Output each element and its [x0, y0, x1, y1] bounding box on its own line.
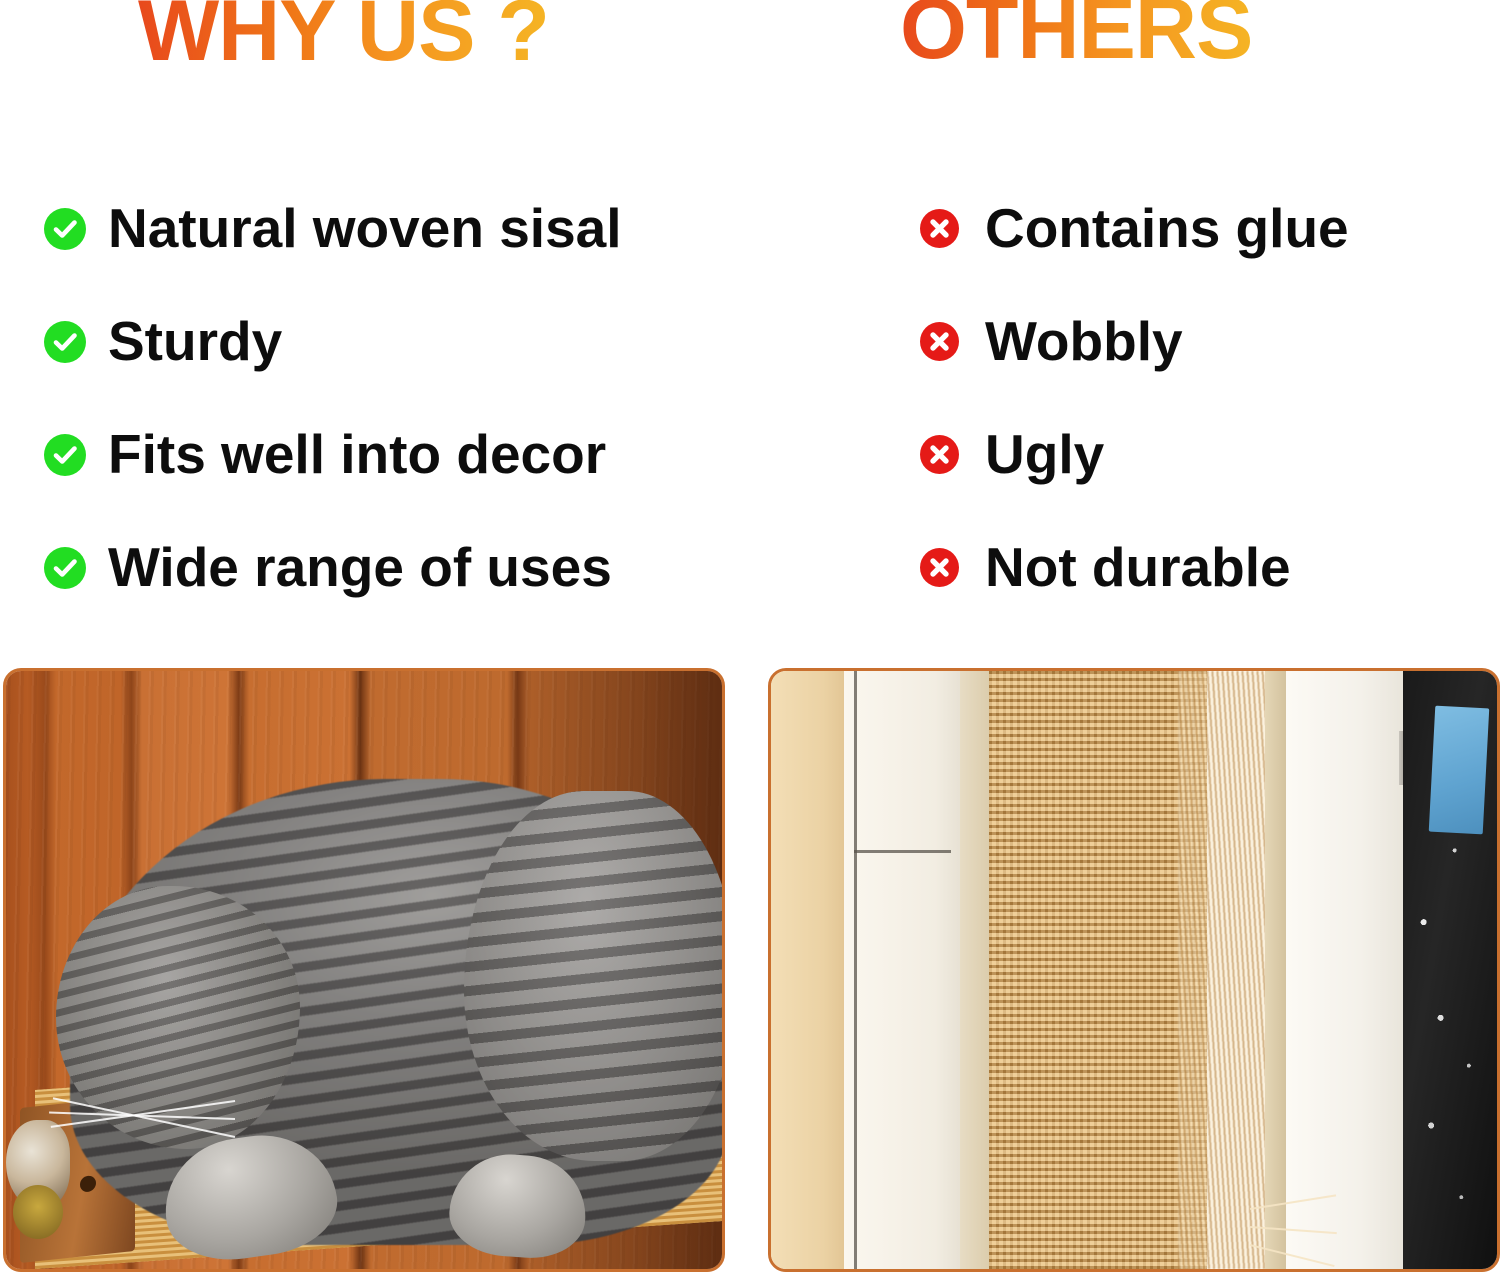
list-item-label: Sturdy: [108, 314, 282, 369]
sisal-mat: [989, 671, 1207, 1269]
check-circle-icon: [44, 434, 86, 476]
cons-list: Contains glue Wobbly Ugly: [920, 172, 1349, 624]
list-item: Natural woven sisal: [44, 172, 622, 285]
check-circle-icon: [44, 547, 86, 589]
right-wall: [1286, 671, 1409, 1269]
pros-list: Natural woven sisal Sturdy Fits well int…: [44, 172, 622, 624]
list-item: Ugly: [920, 398, 1349, 511]
list-item: Sturdy: [44, 285, 622, 398]
cat-toy-secondary: [13, 1185, 63, 1239]
x-circle-icon: [920, 209, 959, 248]
list-item-label: Not durable: [985, 540, 1291, 595]
list-item-label: Wobbly: [985, 314, 1183, 369]
list-item: Wobbly: [920, 285, 1349, 398]
x-circle-icon: [920, 548, 959, 587]
check-circle-icon: [44, 208, 86, 250]
x-circle-icon: [920, 322, 959, 361]
comparison-infographic: WHY US ? OTHERS Natural woven sisal Stur…: [0, 0, 1500, 1274]
list-item: Not durable: [920, 511, 1349, 624]
photo-scene: [771, 671, 1497, 1269]
list-item-label: Contains glue: [985, 201, 1349, 256]
list-item: Fits well into decor: [44, 398, 622, 511]
list-item-label: Ugly: [985, 427, 1104, 482]
list-item-label: Wide range of uses: [108, 540, 612, 595]
list-item: Contains glue: [920, 172, 1349, 285]
check-circle-icon: [44, 321, 86, 363]
why-us-title: WHY US ?: [138, 0, 549, 74]
cat-hindquarters: [464, 791, 725, 1162]
pros-product-photo: [3, 668, 725, 1272]
x-circle-icon: [920, 435, 959, 474]
others-title: OTHERS: [900, 0, 1252, 72]
list-item-label: Natural woven sisal: [108, 201, 622, 256]
photo-scene: [6, 671, 722, 1269]
cons-product-photo: [768, 668, 1500, 1272]
list-item: Wide range of uses: [44, 511, 622, 624]
blue-tape: [1428, 706, 1489, 834]
list-item-label: Fits well into decor: [108, 427, 606, 482]
door-trim: [844, 671, 975, 1269]
